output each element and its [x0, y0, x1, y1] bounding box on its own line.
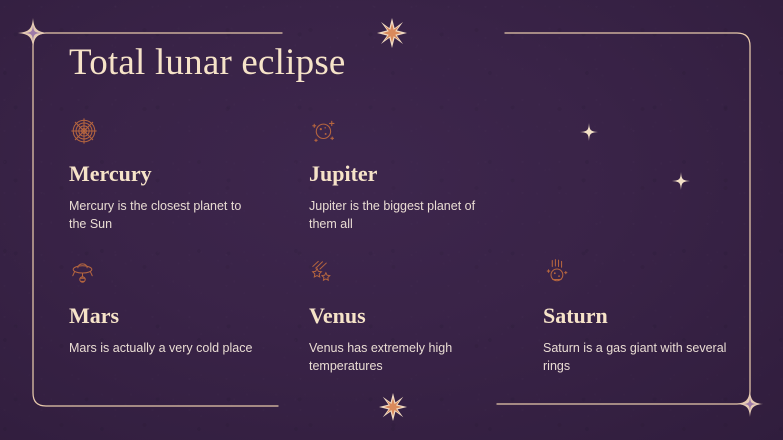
planet-description: Jupiter is the biggest planet of them al…	[309, 198, 499, 234]
six-point-star-top-center	[377, 18, 407, 48]
sparkle-star-right-upper	[580, 123, 598, 141]
planet-description: Mercury is the closest planet to the Sun	[69, 198, 259, 234]
crystal-ball-icon	[543, 258, 758, 290]
ufo-icon	[69, 258, 284, 290]
sparkle-star-right-lower	[672, 172, 690, 190]
planet-name: Mercury	[69, 162, 284, 186]
planet-card-jupiter: Jupiter Jupiter is the biggest planet of…	[309, 116, 524, 234]
planet-card-mercury: Mercury Mercury is the closest planet to…	[69, 116, 284, 234]
four-point-star-top-left	[18, 18, 48, 48]
planet-card-saturn: Saturn Saturn is a gas giant with severa…	[543, 258, 758, 376]
shooting-stars-icon	[309, 258, 524, 290]
planet-description: Saturn is a gas giant with several rings	[543, 340, 733, 376]
four-point-star-bottom-right	[737, 391, 763, 417]
planet-card-mars: Mars Mars is actually a very cold place	[69, 258, 284, 358]
planet-name: Saturn	[543, 304, 758, 328]
planet-name: Mars	[69, 304, 284, 328]
planet-sparkles-icon	[309, 116, 524, 148]
slide-canvas: Total lunar eclipse Mercury Mercury is t…	[0, 0, 783, 440]
page-title: Total lunar eclipse	[69, 44, 346, 83]
six-point-star-bottom-center	[379, 393, 407, 421]
planet-card-venus: Venus Venus has extremely high temperatu…	[309, 258, 524, 376]
planet-description: Mars is actually a very cold place	[69, 340, 259, 358]
planet-name: Jupiter	[309, 162, 524, 186]
planet-name: Venus	[309, 304, 524, 328]
radar-web-icon	[69, 116, 284, 148]
planet-description: Venus has extremely high temperatures	[309, 340, 499, 376]
